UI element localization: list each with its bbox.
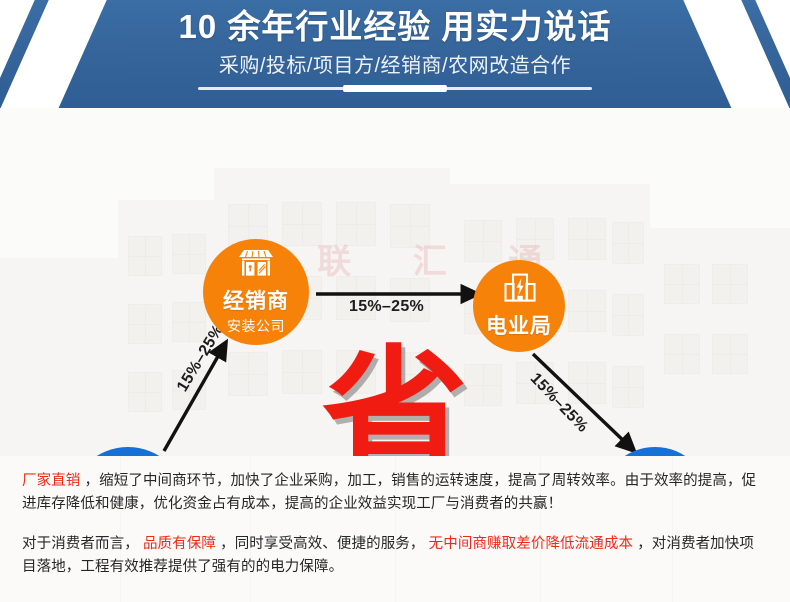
footer-paragraph-2: 对于消费者而言， 品质有保障 ，同时享受高效、便捷的服务， 无中间商赚取差价降低… (22, 533, 768, 579)
footer-paragraph-1: 厂家直销 ，缩短了中间商环节，加快了企业采购，加工，销售的运转速度，提高了周转效… (22, 470, 768, 516)
infographic-page: 10 余年行业经验 用实力说话 采购/投标/项目方/经销商/农网改造合作 (0, 0, 790, 602)
diagram-node-dealer-label: 经销商 (223, 285, 289, 315)
diagram-node-dealer[interactable]: 经销商 安装公司 (203, 239, 309, 345)
power-building-icon (501, 273, 537, 308)
arrow-layer (0, 108, 790, 456)
banner-divider (198, 87, 592, 90)
footer-paragraph-2-part-2: ，同时享受高效、便捷的服务， (220, 536, 424, 552)
banner-subtitle: 采购/投标/项目方/经销商/农网改造合作 (219, 49, 571, 78)
distribution-diagram: 创 联 汇 通 省 15%–25% 15%–25% 15%–25% 在这里省了中… (0, 108, 790, 456)
footer-paragraph-1-rest: ，缩短了中间商环节，加快了企业采购，加工，销售的运转速度，提高了周转效率。由于效… (22, 473, 756, 512)
diagram-node-dealer-sublabel: 安装公司 (227, 316, 285, 336)
header-banner: 10 余年行业经验 用实力说话 采购/投标/项目方/经销商/农网改造合作 (0, 0, 790, 108)
footer-paragraph-2-part-1: 对于消费者而言， (22, 536, 139, 552)
arrow-label-dealer-to-bureau: 15%–25% (349, 298, 424, 316)
storefront-icon (236, 248, 276, 283)
footer-description: 厂家直销 ，缩短了中间商环节，加快了企业采购，加工，销售的运转速度，提高了周转效… (0, 456, 790, 602)
footer-highlight-quality-guarantee: 品质有保障 (143, 536, 216, 552)
banner-title: 10 余年行业经验 用实力说话 (178, 6, 611, 47)
footer-highlight-direct-sales: 厂家直销 (22, 473, 80, 489)
diagram-node-power-bureau-label: 电业局 (486, 310, 552, 340)
footer-highlight-no-middleman: 无中间商赚取差价降低流通成本 (429, 536, 633, 552)
diagram-node-power-bureau[interactable]: 电业局 (473, 260, 565, 352)
